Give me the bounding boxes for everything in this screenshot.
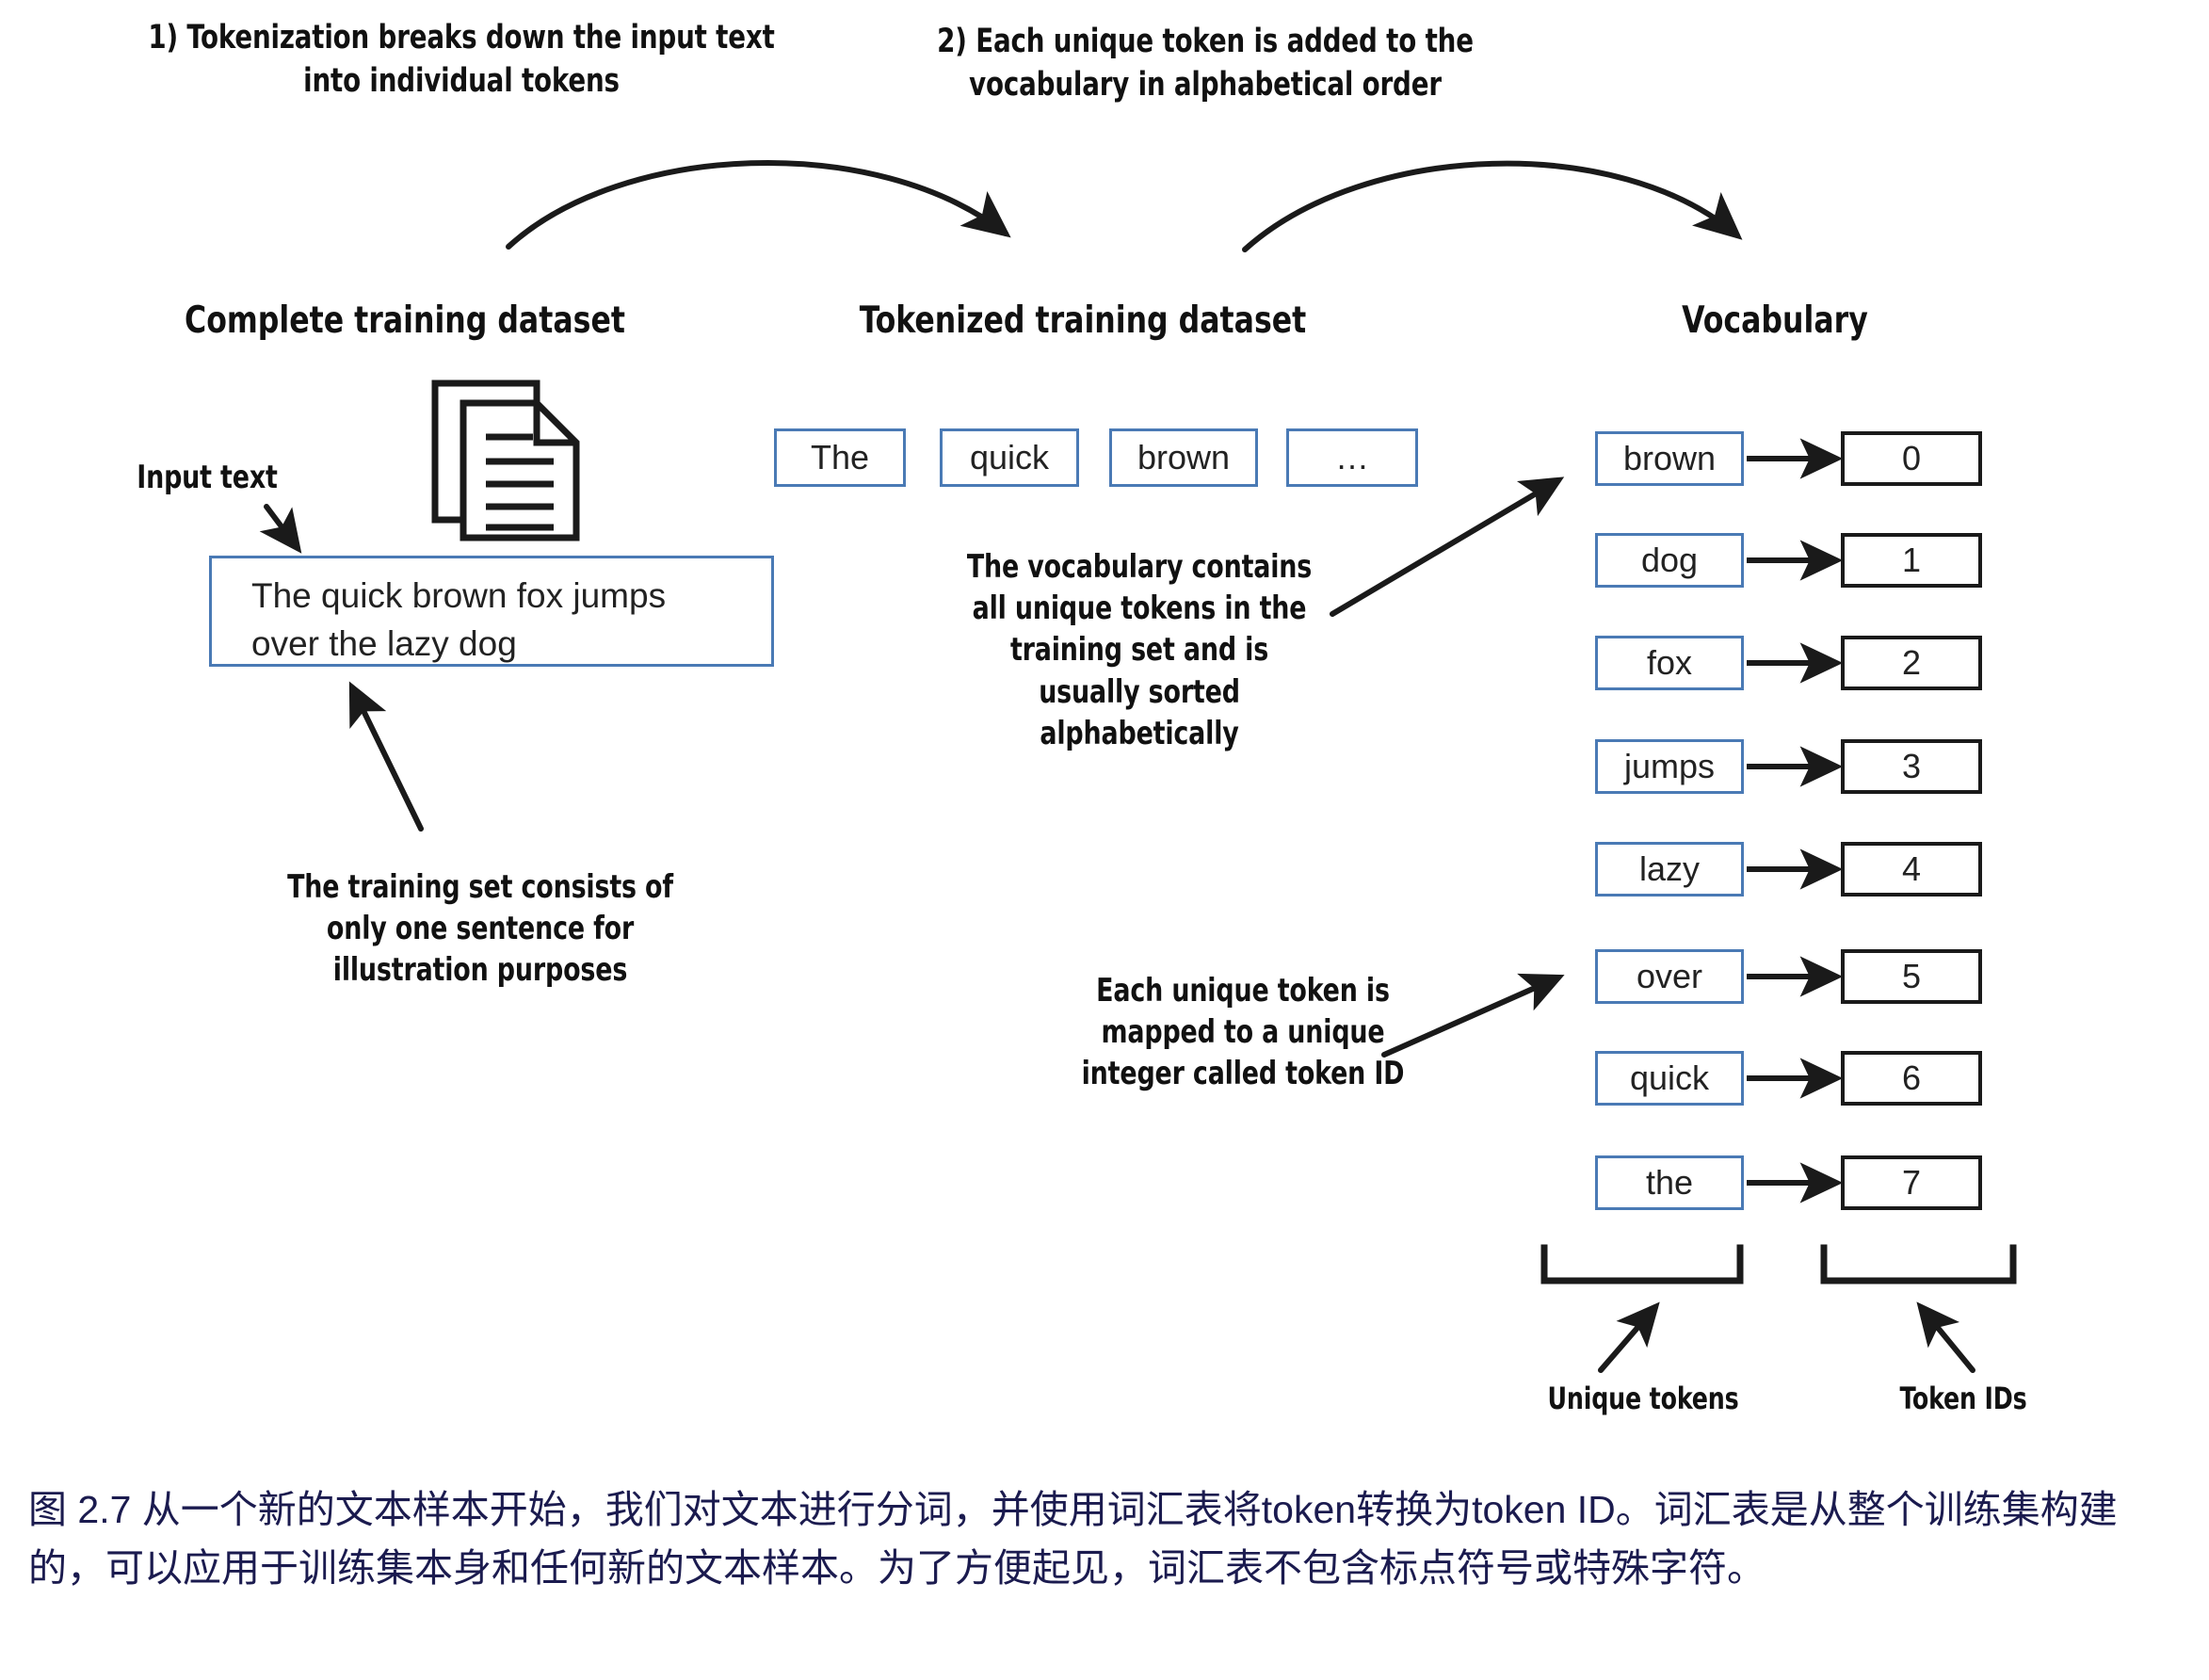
vocab-token-label: over bbox=[1637, 957, 1702, 996]
diagram-arrows-layer bbox=[0, 0, 2209, 1680]
curved-arrow-step-2 bbox=[1245, 164, 1737, 250]
vocab-id-box-6[interactable]: 6 bbox=[1841, 1051, 1982, 1106]
unique-tokens-bracket bbox=[1544, 1248, 1740, 1370]
note-token-mapping: Each unique token is mapped to a unique … bbox=[1081, 970, 1404, 1095]
vocab-id-label: 7 bbox=[1902, 1163, 1921, 1203]
input-text-pointer-arrow bbox=[266, 507, 298, 548]
vocab-token-label: jumps bbox=[1624, 747, 1715, 786]
column-title-tokenized-training-dataset: Tokenized training dataset bbox=[803, 299, 1362, 342]
vocab-id-box-1[interactable]: 1 bbox=[1841, 533, 1982, 588]
vocab-token-box-2[interactable]: fox bbox=[1595, 636, 1744, 690]
vocab-token-label: fox bbox=[1647, 643, 1692, 683]
input-text-line-1: The quick brown fox jumps bbox=[251, 572, 771, 620]
vocab-token-label: the bbox=[1646, 1163, 1693, 1203]
token-id-note-arrow bbox=[1384, 977, 1558, 1055]
token-label: The bbox=[811, 438, 869, 477]
vocab-id-label: 4 bbox=[1902, 849, 1921, 889]
vocabulary-note-arrow bbox=[1332, 480, 1558, 614]
bracket-label-unique-tokens: Unique tokens bbox=[1490, 1380, 1797, 1419]
documents-stack-icon bbox=[435, 383, 576, 538]
token-ids-bracket bbox=[1824, 1248, 2013, 1370]
vocab-token-label: lazy bbox=[1639, 849, 1700, 889]
vocab-id-label: 6 bbox=[1902, 1058, 1921, 1098]
input-text-box[interactable]: The quick brown fox jumps over the lazy … bbox=[209, 556, 774, 667]
vocab-id-box-5[interactable]: 5 bbox=[1841, 949, 1982, 1004]
token-box-1[interactable]: quick bbox=[940, 428, 1079, 487]
vocab-id-label: 2 bbox=[1902, 643, 1921, 683]
figure-canvas: 1) Tokenization breaks down the input te… bbox=[0, 0, 2209, 1680]
vocab-id-box-0[interactable]: 0 bbox=[1841, 431, 1982, 486]
bracket-label-token-ids: Token IDs bbox=[1835, 1380, 2092, 1419]
token-label: brown bbox=[1137, 438, 1230, 477]
step-1-heading: 1) Tokenization breaks down the input te… bbox=[147, 17, 777, 103]
vocab-id-label: 0 bbox=[1902, 439, 1921, 478]
note-vocabulary-contains: The vocabulary contains all unique token… bbox=[965, 546, 1314, 754]
input-text-label: Input text bbox=[100, 457, 315, 498]
vocab-token-box-1[interactable]: dog bbox=[1595, 533, 1744, 588]
training-set-note-arrow bbox=[352, 687, 421, 829]
column-title-complete-training-dataset: Complete training dataset bbox=[108, 299, 701, 342]
step-2-heading: 2) Each unique token is added to the voc… bbox=[891, 21, 1521, 106]
vocab-token-box-6[interactable]: quick bbox=[1595, 1051, 1744, 1106]
vocab-token-box-4[interactable]: lazy bbox=[1595, 842, 1744, 897]
input-text-line-2: over the lazy dog bbox=[251, 620, 771, 668]
vocab-id-box-2[interactable]: 2 bbox=[1841, 636, 1982, 690]
vocab-id-box-3[interactable]: 3 bbox=[1841, 739, 1982, 794]
note-training-set: The training set consists of only one se… bbox=[265, 866, 696, 992]
token-to-id-arrows bbox=[1747, 459, 1836, 1183]
vocab-id-box-7[interactable]: 7 bbox=[1841, 1155, 1982, 1210]
vocab-token-box-3[interactable]: jumps bbox=[1595, 739, 1744, 794]
vocab-token-box-7[interactable]: the bbox=[1595, 1155, 1744, 1210]
token-box-ellipsis[interactable]: … bbox=[1286, 428, 1418, 487]
vocab-id-box-4[interactable]: 4 bbox=[1841, 842, 1982, 897]
vocab-token-label: quick bbox=[1630, 1058, 1709, 1098]
curved-arrow-step-1 bbox=[508, 163, 1006, 247]
vocab-id-label: 3 bbox=[1902, 747, 1921, 786]
token-box-0[interactable]: The bbox=[774, 428, 906, 487]
vocab-token-label: brown bbox=[1623, 439, 1716, 478]
token-label: quick bbox=[970, 438, 1049, 477]
vocab-token-box-0[interactable]: brown bbox=[1595, 431, 1744, 486]
token-label: … bbox=[1335, 438, 1369, 477]
vocab-id-label: 1 bbox=[1902, 541, 1921, 580]
token-box-2[interactable]: brown bbox=[1109, 428, 1258, 487]
vocab-token-box-5[interactable]: over bbox=[1595, 949, 1744, 1004]
column-title-vocabulary: Vocabulary bbox=[1585, 299, 1966, 342]
figure-caption: 图 2.7 从一个新的文本样本开始，我们对文本进行分词，并使用词汇表将token… bbox=[28, 1480, 2194, 1598]
vocab-id-label: 5 bbox=[1902, 957, 1921, 996]
vocab-token-label: dog bbox=[1641, 541, 1698, 580]
